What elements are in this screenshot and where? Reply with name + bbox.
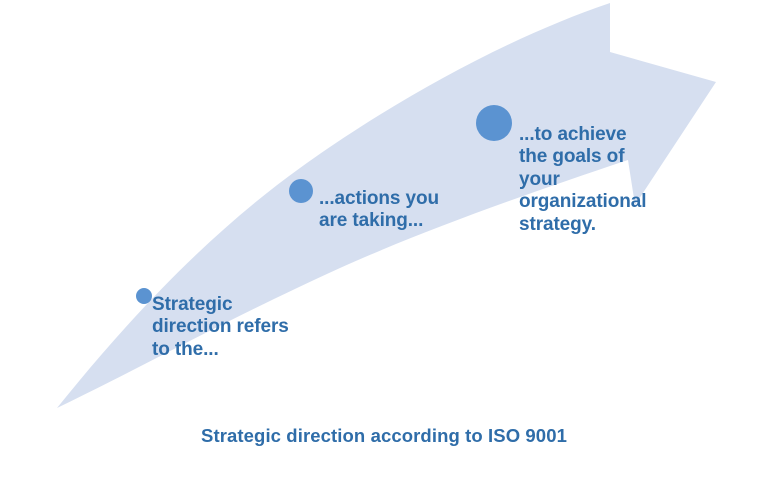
step-markers [0,0,768,482]
step-marker-3[interactable] [476,105,512,141]
step-label-actions-you-are-taking: ...actions you are taking... [319,188,469,233]
step-label-strategic-direction: Strategic direction refers to the... [152,294,312,361]
step-label-achieve-goals: ...to achieve the goals of your organiza… [519,124,679,236]
step-marker-2[interactable] [289,179,313,203]
diagram-canvas: Strategic direction refers to the... ...… [0,0,768,482]
diagram-caption: Strategic direction according to ISO 900… [0,425,768,447]
step-marker-1[interactable] [136,288,152,304]
